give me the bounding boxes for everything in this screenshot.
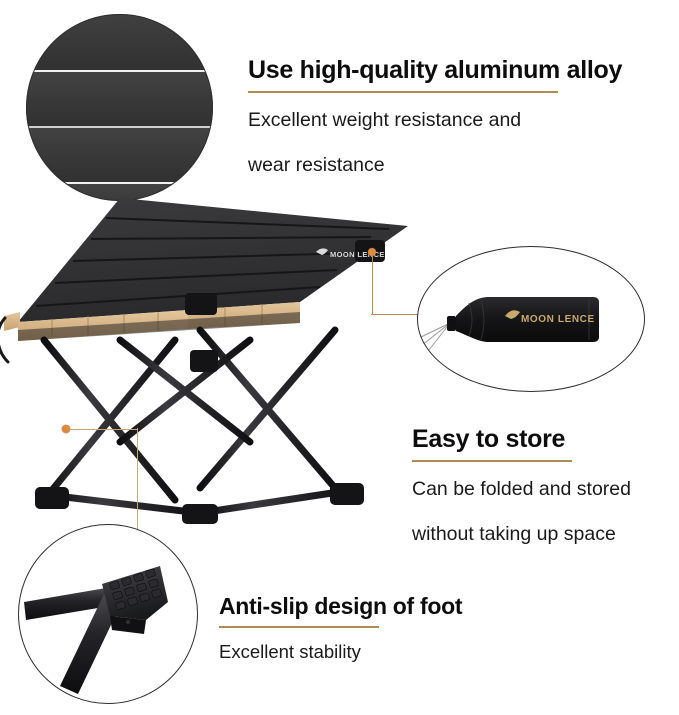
inset-anti-slip-foot bbox=[18, 524, 198, 704]
svg-text:MOON LENCE: MOON LENCE bbox=[521, 314, 595, 325]
feature-rule-alloy bbox=[248, 91, 558, 93]
foot-front bbox=[182, 504, 218, 524]
feature-heading-alloy: Use high-quality aluminum alloy bbox=[248, 55, 622, 85]
slat-stack-graphic bbox=[26, 14, 213, 201]
feature-block-foot: Anti-slip design of foot Excellent stabi… bbox=[219, 592, 462, 667]
inset-aluminum-slats bbox=[26, 14, 213, 201]
feature-body-alloy-line2: wear resistance bbox=[248, 147, 622, 183]
feature-body-store-line2: without taking up space bbox=[412, 516, 631, 552]
foot-right bbox=[330, 483, 364, 505]
feature-heading-store: Easy to store bbox=[412, 424, 631, 454]
table-leg-frame bbox=[44, 330, 335, 500]
feature-body-alloy-line1: Excellent weight resistance and bbox=[248, 102, 622, 138]
leader-line-bag-v bbox=[372, 255, 373, 315]
feature-rule-foot bbox=[219, 626, 379, 628]
infographic-canvas: MOON LENCE bbox=[0, 0, 679, 715]
feature-body-store-line1: Can be folded and stored bbox=[412, 471, 631, 507]
product-illustration-table: MOON LENCE bbox=[0, 190, 410, 520]
feature-block-alloy: Use high-quality aluminum alloy Excellen… bbox=[248, 55, 622, 183]
feature-heading-foot: Anti-slip design of foot bbox=[219, 592, 462, 620]
leader-dot-foot-origin bbox=[62, 425, 70, 433]
svg-text:MOON LENCE: MOON LENCE bbox=[330, 250, 385, 259]
feature-rule-store bbox=[412, 460, 572, 462]
leader-line-foot-v bbox=[137, 428, 138, 529]
feature-body-foot-line1: Excellent stability bbox=[219, 637, 462, 667]
foot-left bbox=[35, 487, 69, 509]
feature-block-store: Easy to store Can be folded and stored w… bbox=[412, 424, 631, 552]
inset-storage-bag: MOON LENCE bbox=[417, 246, 645, 392]
leader-line-foot-h bbox=[70, 429, 138, 430]
